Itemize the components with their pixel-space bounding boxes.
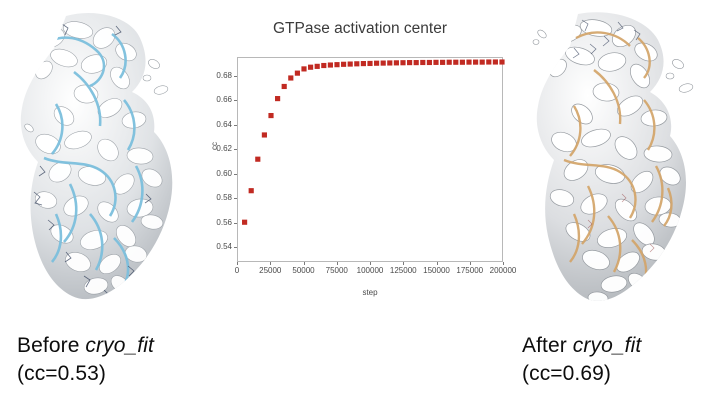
x-tick-mark xyxy=(503,262,504,265)
cc-vs-step-chart: GTPase activation center 0.540.560.580.6… xyxy=(204,12,516,302)
data-point xyxy=(275,96,280,101)
data-point xyxy=(367,61,372,66)
x-tick-mark xyxy=(470,262,471,265)
data-point xyxy=(381,61,386,66)
caption-before-program: cryo_fit xyxy=(85,334,154,357)
density-blobs-before xyxy=(4,8,204,320)
data-point xyxy=(433,60,438,65)
data-point xyxy=(354,61,359,66)
data-point xyxy=(255,157,260,162)
structure-after-cryo-fit xyxy=(518,8,718,320)
y-tick-mark xyxy=(234,125,237,126)
y-tick-mark xyxy=(234,100,237,101)
data-point xyxy=(387,60,392,65)
data-point xyxy=(407,60,412,65)
x-tick-mark xyxy=(270,262,271,265)
x-tick-mark xyxy=(304,262,305,265)
data-point xyxy=(341,62,346,67)
data-point xyxy=(447,60,452,65)
data-point xyxy=(427,60,432,65)
y-tick-mark xyxy=(234,223,237,224)
y-tick-label: 0.60 xyxy=(202,169,232,178)
data-point xyxy=(374,61,379,66)
data-point xyxy=(315,64,320,69)
x-tick-mark xyxy=(370,262,371,265)
caption-after-prefix: After xyxy=(522,334,573,357)
caption-after-value: (cc=0.69) xyxy=(522,360,641,388)
caption-before-prefix: Before xyxy=(17,334,85,357)
data-point xyxy=(480,60,485,65)
data-point xyxy=(348,61,353,66)
y-tick-label: 0.68 xyxy=(202,71,232,80)
data-point xyxy=(295,71,300,76)
data-point xyxy=(414,60,419,65)
data-point xyxy=(473,60,478,65)
x-tick-mark xyxy=(237,262,238,265)
x-tick-mark xyxy=(403,262,404,265)
data-point xyxy=(334,62,339,67)
scatter-series-cc xyxy=(238,58,502,261)
y-tick-label: 0.54 xyxy=(202,242,232,251)
y-tick-mark xyxy=(234,149,237,150)
data-point xyxy=(282,84,287,89)
x-tick-mark xyxy=(437,262,438,265)
data-point xyxy=(420,60,425,65)
data-point xyxy=(394,60,399,65)
y-tick-mark xyxy=(234,247,237,248)
data-point xyxy=(400,60,405,65)
density-blobs-after xyxy=(518,8,718,320)
y-tick-label: 0.64 xyxy=(202,120,232,129)
data-point xyxy=(242,220,247,225)
data-point xyxy=(268,113,273,118)
data-point xyxy=(499,59,504,64)
caption-after-program: cryo_fit xyxy=(573,334,642,357)
structure-before-cryo-fit xyxy=(4,8,204,320)
data-point xyxy=(321,63,326,68)
data-point xyxy=(308,65,313,70)
caption-after: After cryo_fit (cc=0.69) xyxy=(522,332,641,388)
cryo-em-density-map-before-svg xyxy=(4,8,204,320)
data-point xyxy=(262,132,267,137)
data-point xyxy=(453,60,458,65)
plot-area xyxy=(237,57,503,262)
cryo-em-density-map-after-svg xyxy=(518,8,718,320)
caption-before-value: (cc=0.53) xyxy=(17,360,154,388)
x-tick-mark xyxy=(337,262,338,265)
x-axis-label: step xyxy=(237,288,503,297)
data-point xyxy=(361,61,366,66)
data-point xyxy=(460,60,465,65)
y-tick-label: 0.56 xyxy=(202,218,232,227)
data-point xyxy=(486,59,491,64)
caption-before: Before cryo_fit (cc=0.53) xyxy=(17,332,154,388)
chart-title: GTPase activation center xyxy=(204,20,516,38)
data-point xyxy=(493,59,498,64)
data-point xyxy=(440,60,445,65)
data-point xyxy=(301,66,306,71)
y-axis-label: cc xyxy=(210,142,219,150)
y-tick-label: 0.66 xyxy=(202,95,232,104)
y-tick-mark xyxy=(234,198,237,199)
y-tick-mark xyxy=(234,174,237,175)
data-point xyxy=(466,60,471,65)
x-tick-label: 200000 xyxy=(483,266,523,275)
y-tick-mark xyxy=(234,76,237,77)
data-point xyxy=(328,62,333,67)
data-point xyxy=(249,188,254,193)
y-tick-label: 0.58 xyxy=(202,193,232,202)
data-point xyxy=(288,75,293,80)
